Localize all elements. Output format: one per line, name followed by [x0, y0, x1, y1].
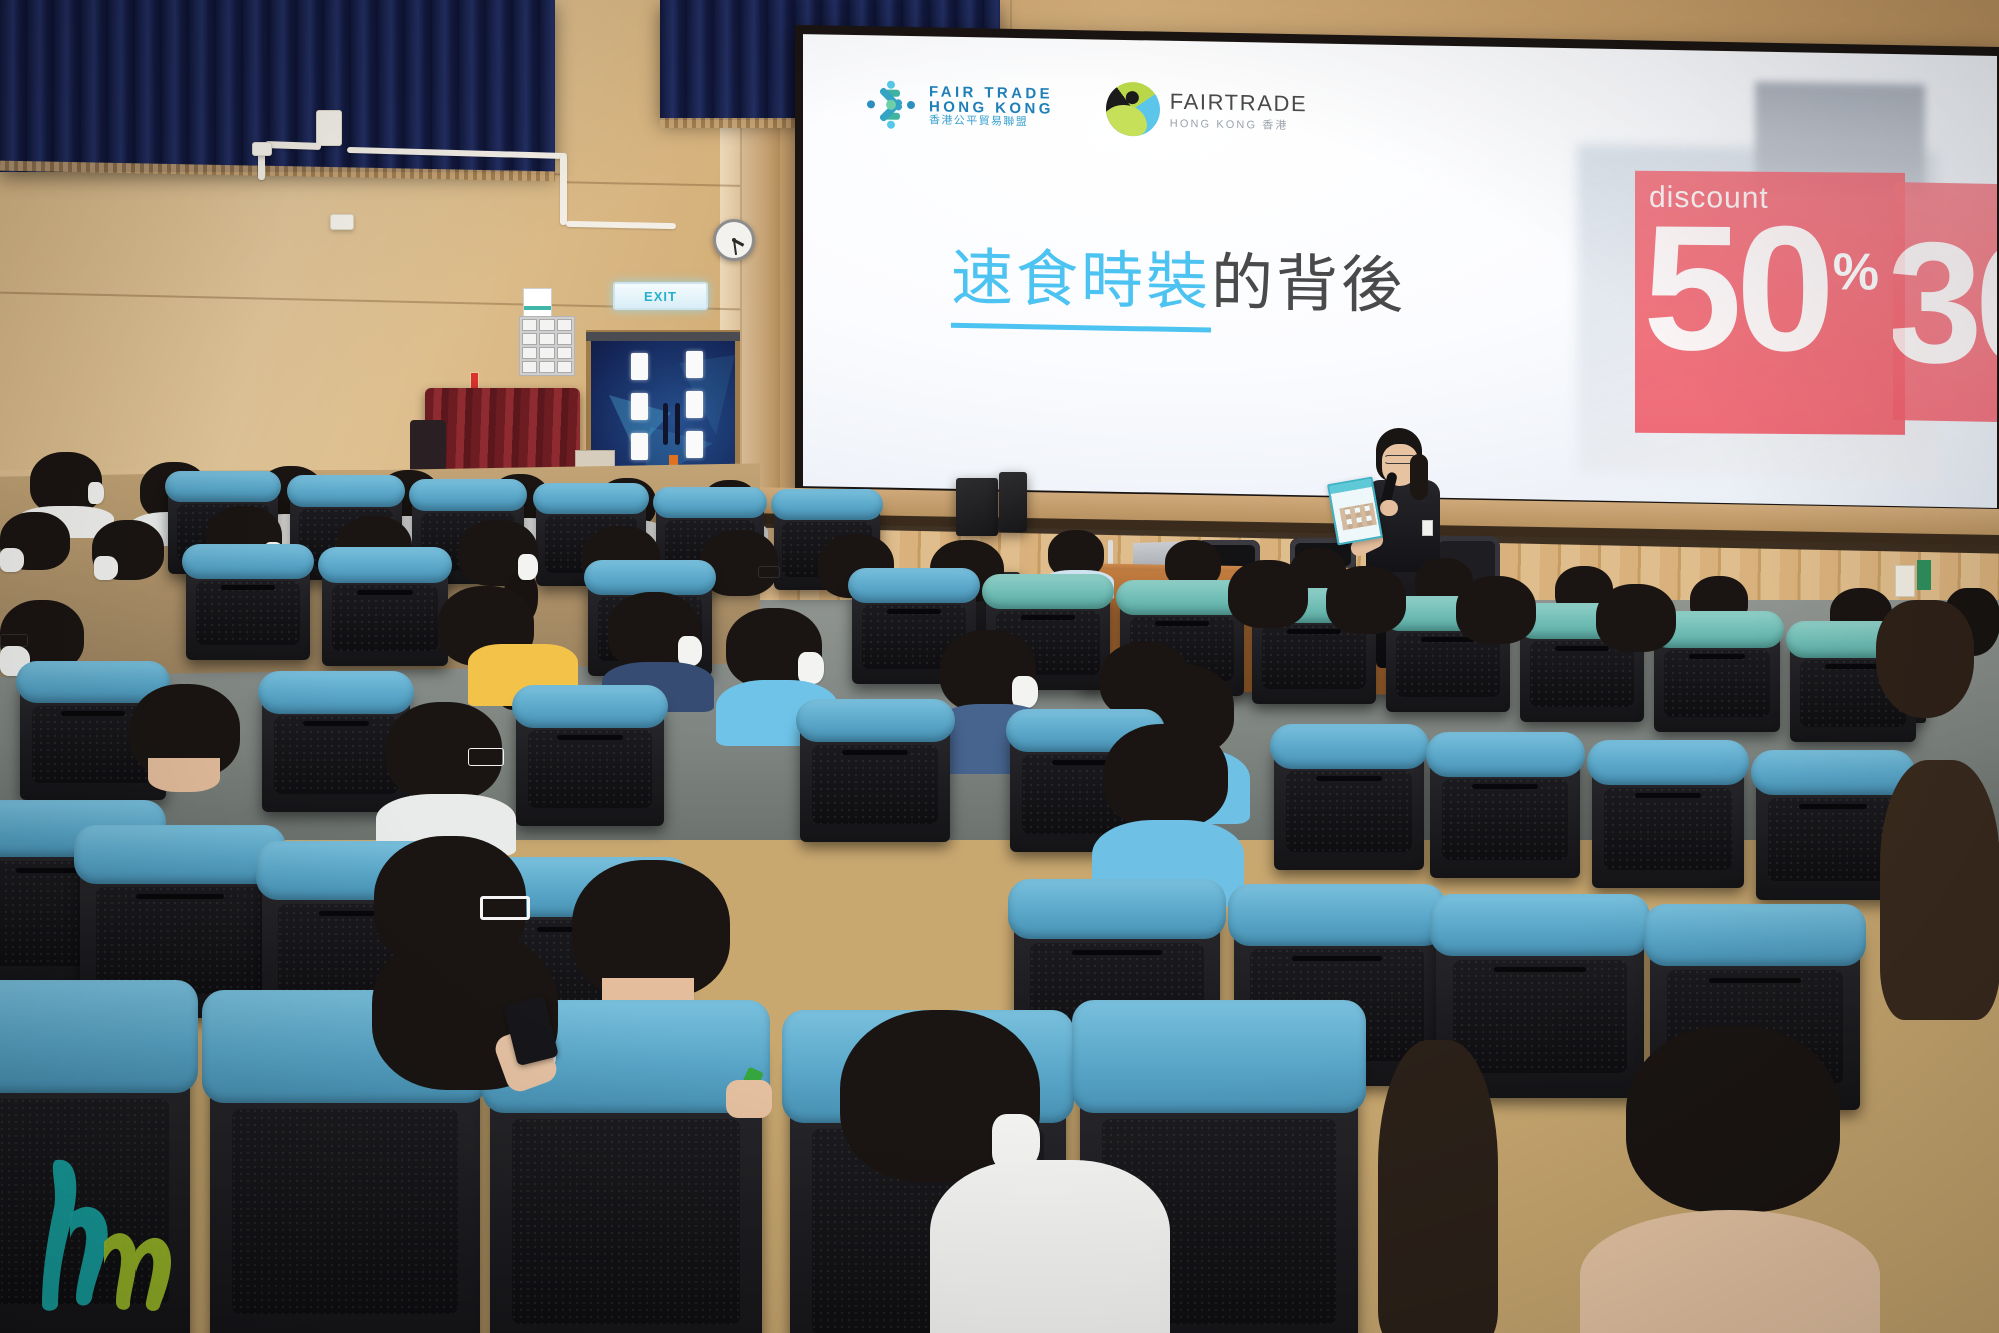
seat-back-mesh [812, 745, 938, 824]
person-hair [1876, 600, 1974, 718]
seat-vent-slot [1799, 804, 1867, 809]
glasses-icon [468, 748, 504, 766]
audience-member [1326, 566, 1406, 658]
glasses-icon [480, 896, 530, 920]
audience-member [386, 702, 502, 834]
seat-headrest [1751, 750, 1914, 796]
seat-headrest [584, 560, 715, 595]
person-head [1228, 560, 1308, 628]
seat-vent-slot [357, 590, 412, 595]
auditorium-seat[interactable] [1592, 756, 1744, 888]
seat-back-mesh [196, 581, 300, 645]
seat-vent-slot [1709, 978, 1801, 983]
audience-member [1104, 724, 1228, 864]
seat-vent-slot [887, 609, 942, 614]
face-mask [94, 556, 118, 580]
person-head [1596, 584, 1676, 652]
seat-vent-slot [1689, 654, 1744, 659]
seat-headrest [74, 825, 286, 883]
seat-headrest [1008, 879, 1226, 940]
seat-vent-slot [1021, 615, 1076, 620]
audience-member [1596, 584, 1676, 676]
student-neck [1580, 1210, 1880, 1333]
seat-vent-slot [221, 585, 276, 590]
audience-member [1456, 576, 1536, 668]
audience-member [0, 512, 70, 588]
seat-vent-slot [1316, 776, 1382, 781]
seat-headrest [1587, 740, 1748, 785]
audience-member [130, 684, 240, 808]
auditorium-photo-scene: EXIT discoun [0, 0, 1999, 1333]
auditorium-seat[interactable] [1274, 740, 1424, 870]
seat-vent-slot [303, 721, 368, 726]
seat-headrest [0, 980, 198, 1092]
seat-vent-slot [1292, 956, 1383, 961]
face-mask [0, 548, 24, 572]
seat-back-mesh [274, 716, 398, 794]
audience-member [1228, 560, 1308, 652]
seat-back-mesh [1604, 788, 1732, 870]
glasses-icon [758, 566, 780, 578]
student-hand [726, 1080, 772, 1118]
audience-member [608, 592, 700, 696]
seat-headrest [1228, 884, 1446, 945]
seat-headrest [1270, 724, 1429, 768]
seat-vent-slot [61, 711, 125, 716]
auditorium-seat[interactable] [186, 556, 310, 660]
seat-back-mesh [1453, 960, 1628, 1073]
seat-headrest [1644, 904, 1867, 967]
seat-headrest [1426, 732, 1585, 776]
seat-vent-slot [557, 735, 622, 740]
auditorium-seat[interactable] [1430, 748, 1580, 878]
seat-headrest [318, 547, 452, 583]
student-shirt [930, 1160, 1170, 1333]
seat-back-mesh [1664, 650, 1770, 717]
seat-back-mesh [1442, 779, 1568, 860]
seat-vent-slot [1155, 621, 1210, 626]
face-mask [1012, 676, 1038, 708]
seat-back-mesh [1768, 798, 1897, 881]
person-head [1104, 724, 1228, 828]
audience-member [1876, 600, 1974, 720]
auditorium-seat[interactable] [800, 714, 950, 842]
seat-headrest [512, 685, 669, 728]
seat-headrest [1430, 894, 1650, 956]
face-mask [798, 652, 824, 684]
seat-vent-slot [136, 894, 224, 899]
seat-headrest [848, 568, 979, 603]
seat-headrest [182, 544, 313, 579]
seat-back-mesh [332, 585, 438, 651]
audience-member [468, 598, 578, 698]
face-mask [678, 636, 702, 666]
seat-headrest [165, 471, 282, 502]
person-head [1456, 576, 1536, 644]
seat-back-mesh [0, 1099, 169, 1304]
seat-back-mesh [528, 730, 652, 808]
seat-vent-slot [1825, 664, 1880, 669]
seat-back-mesh [1286, 771, 1412, 852]
seat-vent-slot [1072, 950, 1163, 955]
face-mask [518, 554, 538, 580]
person-head [1326, 566, 1406, 634]
seat-headrest [796, 699, 955, 743]
seat-vent-slot [1472, 784, 1538, 789]
seat-headrest [409, 479, 528, 511]
seat-headrest [287, 475, 406, 507]
seat-vent-slot [1635, 793, 1702, 798]
person-head [1626, 1026, 1840, 1212]
seat-vent-slot [842, 750, 908, 755]
long-hair [1880, 760, 1999, 1020]
seat-headrest [653, 487, 767, 518]
seat-headrest [982, 574, 1113, 609]
person-neck [148, 758, 220, 792]
seat-headrest [533, 483, 650, 514]
seat-headrest [771, 489, 883, 520]
audience-seating [0, 0, 1999, 1333]
seat-headrest [1072, 1000, 1367, 1112]
seat-vent-slot [1494, 967, 1586, 972]
seat-back-mesh [96, 887, 264, 994]
auditorium-seat[interactable] [322, 560, 448, 666]
auditorium-seat[interactable] [0, 1020, 190, 1333]
audience-member [92, 520, 164, 598]
long-hair [1378, 1040, 1498, 1333]
auditorium-seat[interactable] [516, 700, 664, 826]
face-mask [88, 482, 104, 504]
